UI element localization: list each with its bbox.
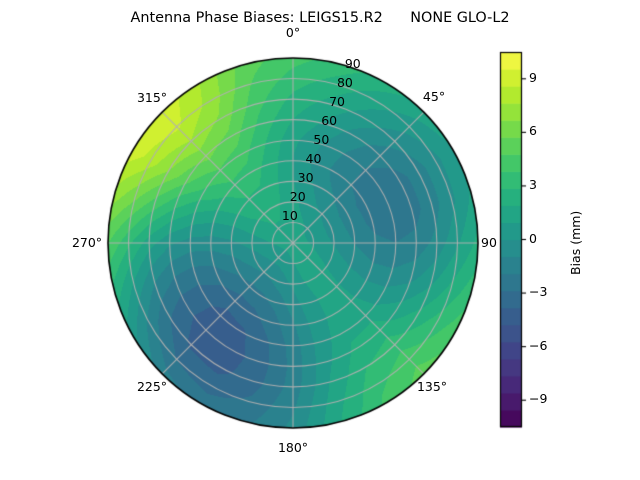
polar-contour-plot: [0, 0, 640, 480]
figure-canvas-container: Antenna Phase Biases: LEIGS15.R2 NONE GL…: [0, 0, 640, 480]
